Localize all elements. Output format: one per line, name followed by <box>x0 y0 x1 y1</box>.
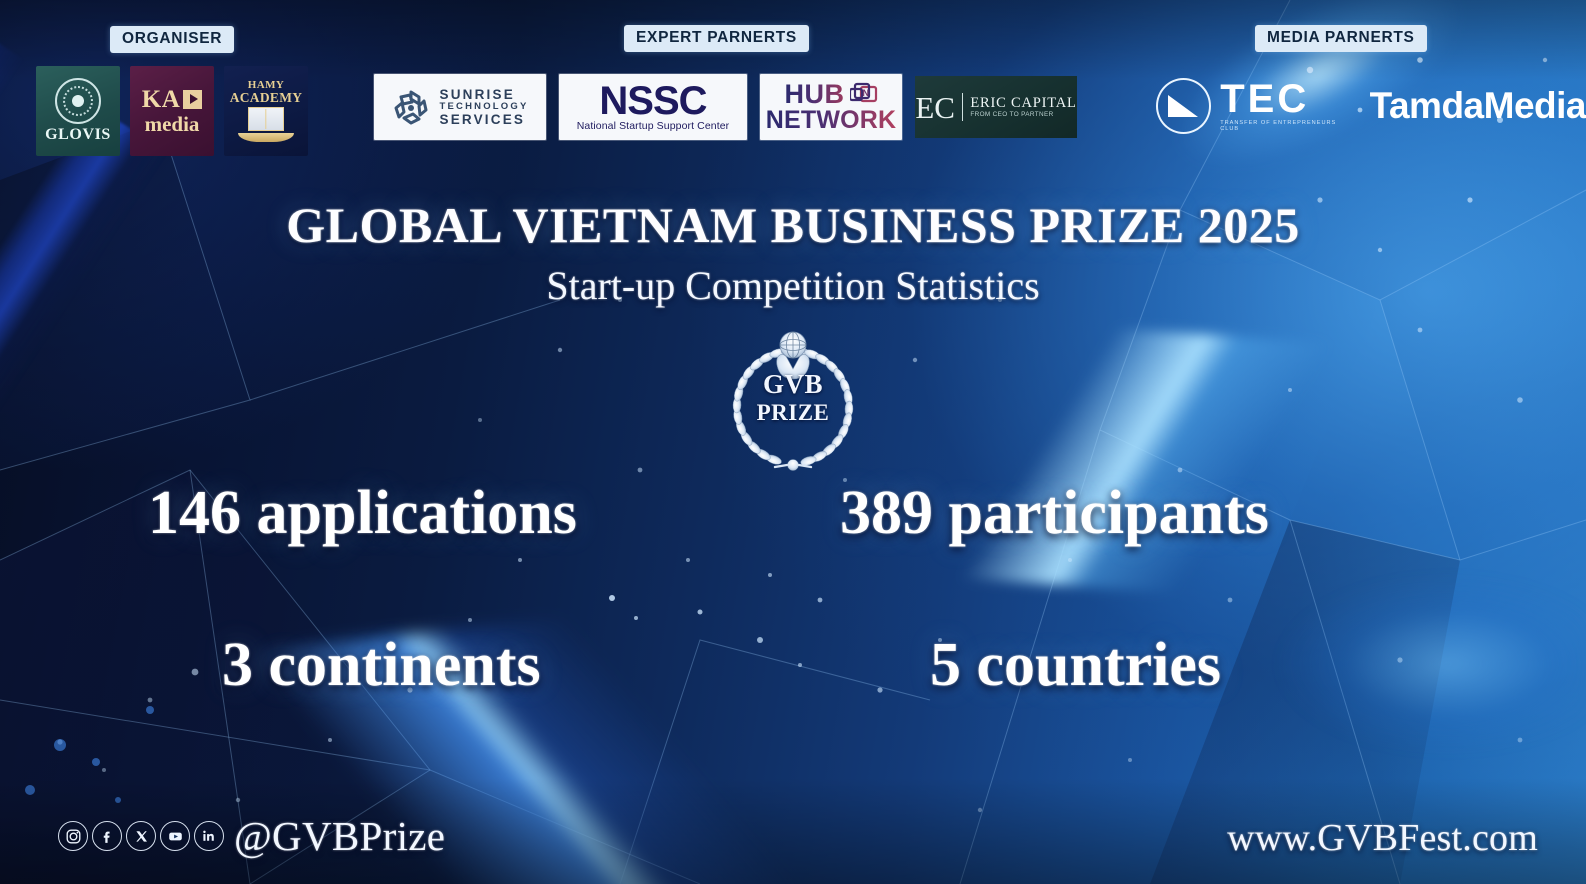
x-twitter-icon[interactable] <box>126 821 156 851</box>
open-book-icon <box>248 107 284 131</box>
website-url[interactable]: www.GVBFest.com <box>1227 816 1538 860</box>
sunrise-hexagon-icon <box>391 87 431 127</box>
logo-tamda-media[interactable]: TamdaMedia <box>1370 85 1586 127</box>
expert-logo-row: SUNRISE TECHNOLOGY SERVICES NSSC Nationa… <box>374 74 1077 140</box>
logo-nssc-acronym: NSSC <box>599 82 706 121</box>
media-partners-badge: MEDIA PARNERTS <box>1255 25 1427 52</box>
stat-countries: 5 countries <box>930 630 1221 701</box>
play-button-icon <box>183 90 202 109</box>
organiser-badge: ORGANISER <box>110 26 234 53</box>
logo-hamy-academy[interactable]: HAMY ACADEMY <box>224 66 308 156</box>
page-subtitle: Start-up Competition Statistics <box>0 262 1586 309</box>
logo-hub-network[interactable]: HUB N NETWORK <box>760 74 902 140</box>
logo-ec-mark: EC <box>915 92 955 123</box>
concentric-circle-icon <box>55 78 101 124</box>
logo-glovis-label: GLOVIS <box>45 126 111 144</box>
sail-circle-icon <box>1156 78 1211 134</box>
laurel-ribbon-icon <box>238 133 294 142</box>
logo-tec-tagline: TRANSFER OF ENTREPRENEURS CLUB <box>1220 121 1355 132</box>
logo-ka-media-line2: media <box>145 113 200 135</box>
stat-participants: 389 participants <box>840 478 1269 549</box>
stat-applications: 146 applications <box>148 478 577 549</box>
stacked-squares-icon: N <box>850 82 878 106</box>
social-handle[interactable]: @GVBPrize <box>234 812 445 860</box>
logo-hamy-line2: ACADEMY <box>230 91 303 105</box>
logo-ka-media[interactable]: KA media <box>130 66 214 156</box>
logo-nssc-tagline: National Startup Support Center <box>577 120 730 132</box>
social-handle-group: @GVBPrize <box>58 812 445 860</box>
logo-ec-divider <box>962 93 963 121</box>
logo-hub-line2: NETWORK <box>766 108 897 134</box>
partner-band: ORGANISER EXPERT PARNERTS MEDIA PARNERTS… <box>0 0 1586 165</box>
linkedin-icon[interactable] <box>194 821 224 851</box>
emblem-text: GVB PRIZE <box>713 371 873 424</box>
promo-slide: ORGANISER EXPERT PARNERTS MEDIA PARNERTS… <box>0 0 1586 884</box>
logo-sunrise-line3: SERVICES <box>439 112 528 127</box>
logo-ec-tagline: FROM CEO TO PARTNER <box>970 111 1076 118</box>
logo-tec[interactable]: TEC TRANSFER OF ENTREPRENEURS CLUB <box>1156 78 1356 134</box>
logo-sunrise-line1: SUNRISE <box>439 87 528 102</box>
gvb-prize-emblem: GVB PRIZE <box>713 325 873 480</box>
logo-hub-line1: HUB <box>785 81 845 108</box>
emblem-line2: PRIZE <box>713 401 873 424</box>
emblem-line1: GVB <box>713 371 873 398</box>
organiser-logo-row: GLOVIS KA media HAMY ACADEMY <box>36 66 308 156</box>
logo-glovis[interactable]: GLOVIS <box>36 66 120 156</box>
logo-sunrise-line2: TECHNOLOGY <box>439 102 528 113</box>
svg-text:N: N <box>862 88 869 98</box>
logo-ec-title: ERIC CAPITAL <box>970 96 1076 112</box>
media-logo-row: TEC TRANSFER OF ENTREPRENEURS CLUB Tamda… <box>1156 78 1586 134</box>
instagram-icon[interactable] <box>58 821 88 851</box>
youtube-icon[interactable] <box>160 821 190 851</box>
expert-partners-badge: EXPERT PARNERTS <box>624 25 809 52</box>
logo-ka-media-line1: KA <box>142 87 181 112</box>
logo-nssc[interactable]: NSSC National Startup Support Center <box>559 74 747 140</box>
logo-tec-acronym: TEC <box>1220 79 1355 119</box>
logo-eric-capital[interactable]: EC ERIC CAPITAL FROM CEO TO PARTNER <box>915 76 1077 138</box>
logo-sunrise-technology-services[interactable]: SUNRISE TECHNOLOGY SERVICES <box>374 74 546 140</box>
facebook-icon[interactable] <box>92 821 122 851</box>
page-title: GLOBAL VIETNAM BUSINESS PRIZE 2025 <box>0 196 1586 254</box>
stat-continents: 3 continents <box>222 630 541 701</box>
